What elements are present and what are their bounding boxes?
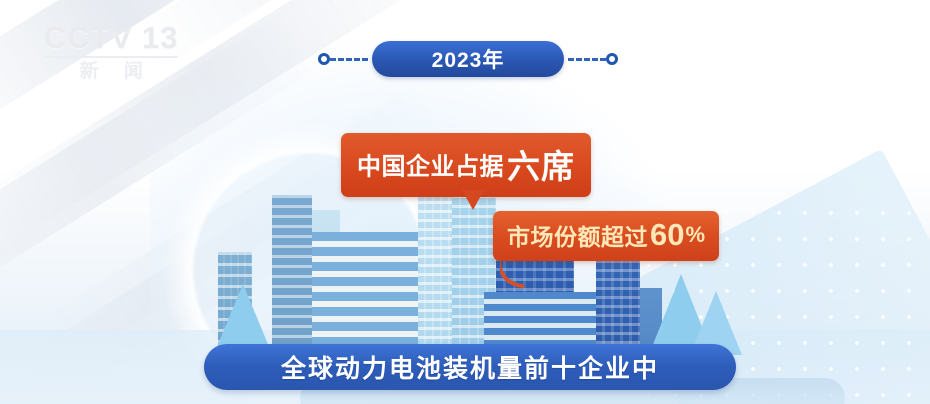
callout-2-number: 60 bbox=[650, 217, 684, 252]
bottom-banner: 全球动力电池装机量前十企业中 bbox=[204, 344, 736, 390]
callout-market-share: 市场份额超过60% bbox=[493, 211, 719, 261]
year-badge: 2023年 bbox=[318, 41, 618, 77]
timeline-dash-left bbox=[330, 58, 368, 61]
watermark-divider bbox=[44, 56, 178, 58]
callout-chinese-firms: 中国企业占据六席 bbox=[341, 133, 591, 197]
watermark-channel: CCTV 13 bbox=[44, 22, 178, 53]
callout-1-pointer-icon bbox=[462, 190, 484, 210]
bottom-banner-label: 全球动力电池装机量前十企业中 bbox=[281, 349, 659, 385]
year-label: 2023年 bbox=[372, 41, 564, 77]
timeline-dot-icon bbox=[318, 53, 330, 65]
watermark-subtitle: 新 闻 bbox=[44, 62, 178, 81]
timeline-dot-icon bbox=[606, 53, 618, 65]
callout-2-unit: % bbox=[685, 222, 705, 247]
cctv13-logo-icon: CCTV 13 新 闻 bbox=[44, 22, 178, 81]
infographic-canvas: CCTV 13 新 闻 bbox=[0, 0, 930, 404]
callout-1-highlight: 六席 bbox=[507, 148, 575, 185]
callout-1-lead: 中国企业占据 bbox=[357, 154, 504, 181]
callout-2-lead: 市场份额超过 bbox=[507, 224, 648, 250]
timeline-dash-right bbox=[568, 58, 606, 61]
